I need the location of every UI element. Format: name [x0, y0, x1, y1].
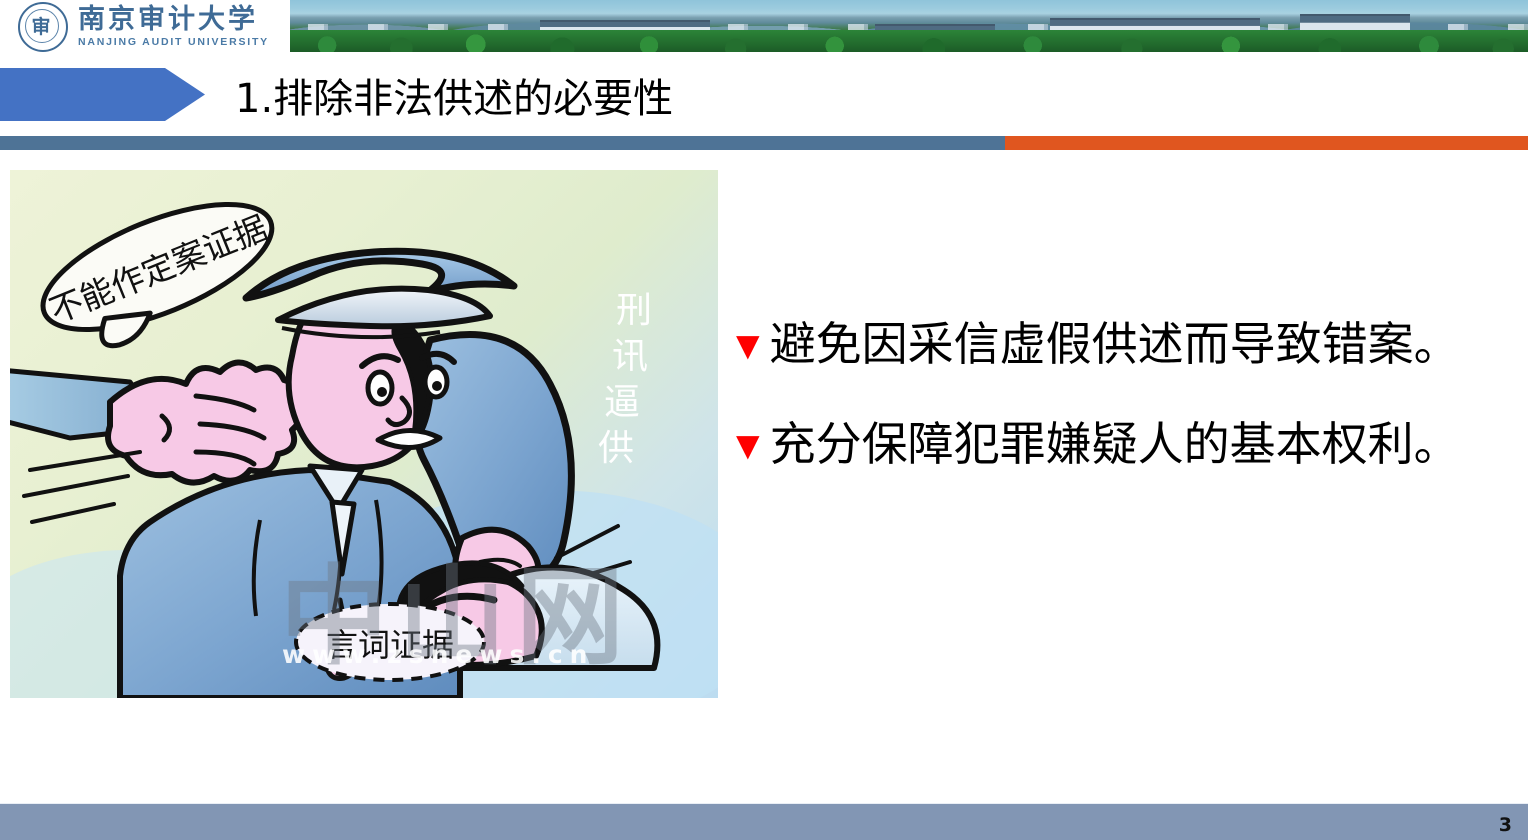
triangle-down-icon: ▼	[728, 426, 768, 466]
campus-photo-strip	[290, 0, 1528, 52]
page-number: 3	[1499, 814, 1512, 836]
page-title: 1.排除非法供述的必要性	[235, 66, 673, 124]
university-name-en: NANJING AUDIT UNIVERSITY	[78, 37, 269, 48]
university-logo-text: 南京审计大学 NANJING AUDIT UNIVERSITY	[78, 6, 269, 48]
treeline	[290, 30, 1528, 52]
header-banner: 南京审计大学 NANJING AUDIT UNIVERSITY	[0, 0, 1528, 56]
bullet-list: ▼ 避免因采信虚假供述而导致错案。 ▼ 充分保障犯罪嫌疑人的基本权利。	[728, 320, 1520, 521]
bullet-text: 充分保障犯罪嫌疑人的基本权利。	[770, 420, 1460, 468]
university-seal-icon	[18, 2, 68, 52]
slide-title-row: 1.排除非法供述的必要性	[0, 56, 1528, 134]
triangle-down-icon: ▼	[728, 326, 768, 366]
illustration-image: 不能作定案证据 刑 讯 逼 供 言词证据 中山网 www.zsnews.cn	[10, 170, 718, 698]
divider-segment-blue	[0, 136, 1005, 150]
divider-segment-orange	[1005, 136, 1528, 150]
footer-bar: 3	[0, 803, 1528, 840]
university-logo: 南京审计大学 NANJING AUDIT UNIVERSITY	[18, 2, 290, 52]
bullet-item: ▼ 充分保障犯罪嫌疑人的基本权利。	[728, 420, 1520, 468]
svg-text:供: 供	[598, 428, 634, 469]
svg-text:逼: 逼	[604, 382, 640, 423]
cartoon-artwork: 不能作定案证据 刑 讯 逼 供 言词证据	[10, 170, 718, 698]
divider	[0, 136, 1528, 150]
title-arrow-shape	[0, 68, 205, 121]
svg-text:言词证据: 言词证据	[326, 626, 454, 664]
svg-text:刑: 刑	[616, 290, 652, 331]
svg-text:讯: 讯	[612, 336, 648, 377]
bullet-text: 避免因采信虚假供述而导致错案。	[770, 320, 1460, 368]
university-name-cn: 南京审计大学	[78, 6, 269, 33]
bullet-item: ▼ 避免因采信虚假供述而导致错案。	[728, 320, 1520, 368]
